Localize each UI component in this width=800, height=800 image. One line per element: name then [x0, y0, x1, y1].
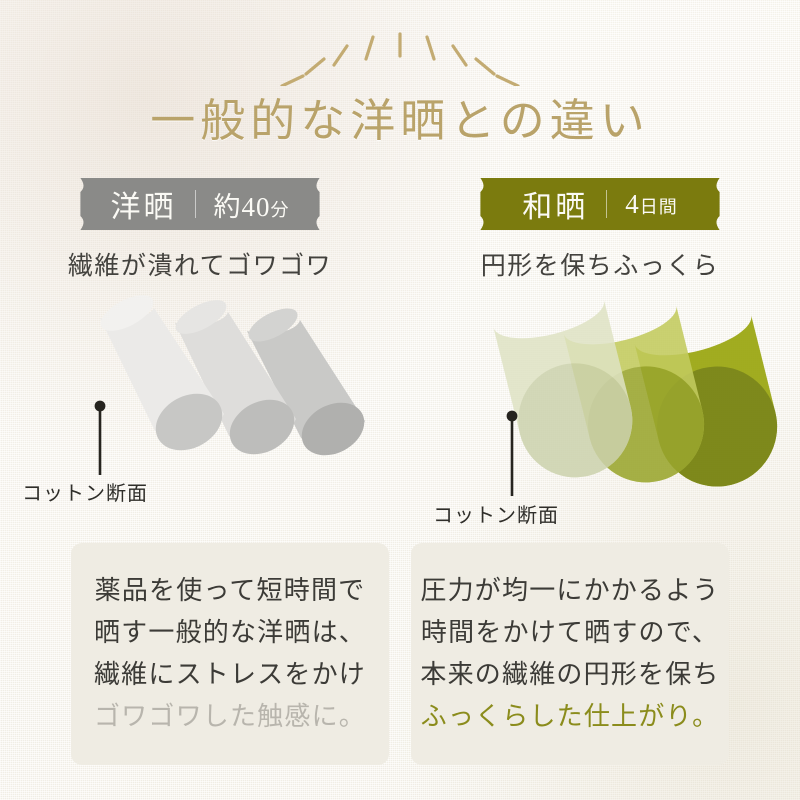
description-card-yozarashi: 薬品を使って短時間で 晒す一般的な洋晒は、 繊維にストレスをかけ ゴワゴワした触…: [71, 543, 389, 765]
card-line: 圧力が均一にかかるよう: [420, 572, 719, 610]
subtitle-yozarashi: 繊維が潰れてゴワゴワ: [0, 246, 400, 282]
badge-row-yozarashi: 洋晒 約40分: [0, 178, 400, 230]
badge-duration-value-wazarashi: 4: [625, 189, 640, 219]
subtitle-wazarashi: 円形を保ちふっくら: [400, 246, 800, 282]
page-title: 一般的な洋晒との違い: [0, 84, 800, 149]
card-line: 本来の繊維の円形を保ち: [420, 656, 719, 694]
badge-wazarashi: 和晒 4日間: [470, 178, 730, 230]
card-line-accent: ふっくらした仕上がり。: [421, 698, 720, 736]
comparison-columns: 洋晒 約40分 繊維が潰れてゴワゴワ: [0, 178, 800, 558]
column-wazarashi: 和晒 4日間 円形を保ちふっくら: [400, 178, 800, 558]
badge-duration-wazarashi: 4日間: [625, 189, 688, 220]
badge-divider-yozarashi: [195, 190, 196, 218]
badge-label-wazarashi: 和晒: [512, 182, 588, 226]
badge-duration-unit-yozarashi: 分: [271, 200, 290, 220]
callout-leader-yozarashi: [95, 401, 106, 475]
sunburst-dashes-icon: [0, 26, 800, 86]
badge-duration-value-yozarashi: 約40: [214, 192, 271, 222]
badge-divider-wazarashi: [606, 190, 607, 218]
card-line-accent: ゴワゴワした触感に。: [94, 698, 366, 736]
illustration-yozarashi: コットン断面: [0, 288, 400, 558]
callout-label-yozarashi: コットン断面: [22, 482, 148, 505]
infographic-page: 一般的な洋晒との違い 洋晒 約40分 繊維が潰れてゴワゴワ: [0, 0, 800, 800]
card-line: 薬品を使って短時間で: [95, 572, 366, 610]
description-card-wazarashi: 圧力が均一にかかるよう 時間をかけて晒すので、 本来の繊維の円形を保ち ふっくら…: [411, 543, 729, 765]
column-yozarashi: 洋晒 約40分 繊維が潰れてゴワゴワ: [0, 178, 400, 558]
card-line: 繊維にストレスをかけ: [94, 656, 366, 694]
badge-duration-unit-wazarashi: 日間: [640, 197, 678, 217]
badge-row-wazarashi: 和晒 4日間: [400, 178, 800, 230]
description-cards: 薬品を使って短時間で 晒す一般的な洋晒は、 繊維にストレスをかけ ゴワゴワした触…: [0, 543, 800, 765]
illustration-wazarashi: コットン断面: [400, 288, 800, 558]
card-line: 時間をかけて晒すので、: [421, 614, 719, 652]
callout-label-wazarashi: コットン断面: [433, 504, 559, 527]
badge-duration-yozarashi: 約40分: [214, 185, 300, 224]
callout-leader-wazarashi: [507, 411, 518, 496]
badge-label-yozarashi: 洋晒: [101, 182, 177, 226]
card-line: 晒す一般的な洋晒は、: [94, 614, 366, 652]
badge-yozarashi: 洋晒 約40分: [70, 178, 330, 230]
